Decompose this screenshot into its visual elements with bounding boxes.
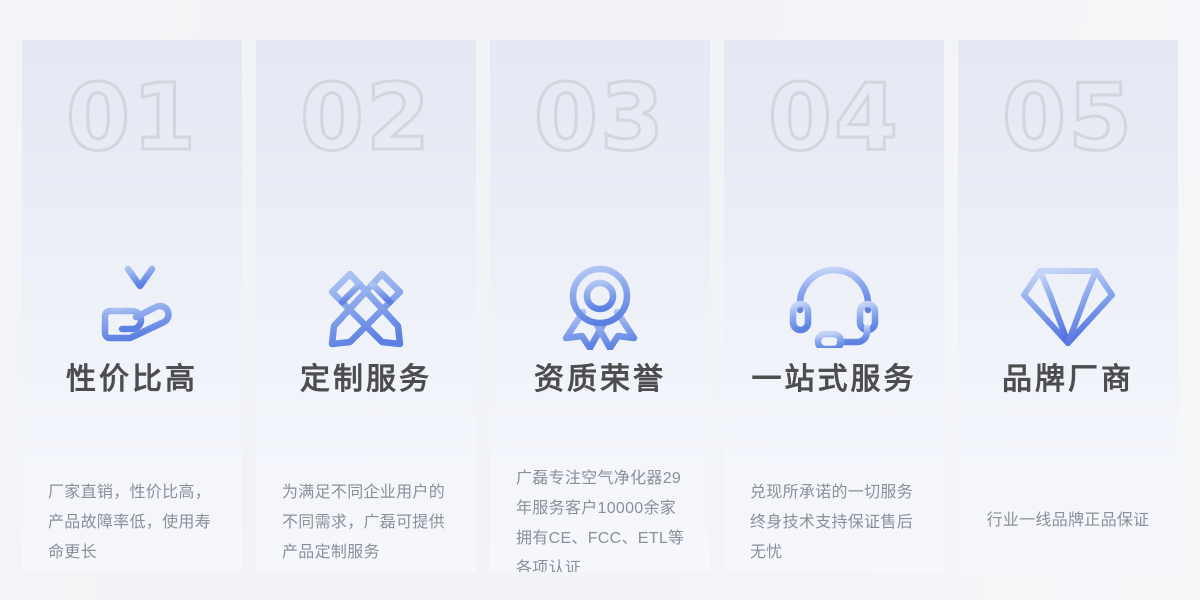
card-title: 一站式服务 <box>724 362 944 398</box>
diamond-icon <box>958 258 1178 354</box>
card-description: 厂家直销，性价比高，产品故障率低，使用寿命更长 <box>48 478 222 568</box>
hand-holding-money-icon <box>22 258 242 354</box>
card-number-badge: 05 <box>958 72 1178 164</box>
feature-card-02[interactable]: 02 <box>256 40 476 572</box>
award-ribbon-icon <box>490 258 710 354</box>
feature-card-01[interactable]: 01 <box>22 40 242 572</box>
card-number-badge: 04 <box>724 72 944 164</box>
feature-card-04[interactable]: 04 <box>724 40 944 572</box>
card-title: 资质荣誉 <box>490 362 710 398</box>
card-number-badge: 03 <box>490 72 710 164</box>
card-description: 为满足不同企业用户的不同需求，广磊可提供产品定制服务 <box>282 478 456 568</box>
headset-icon <box>724 258 944 354</box>
feature-card-05[interactable]: 05 <box>958 40 1178 572</box>
card-title: 定制服务 <box>256 362 476 398</box>
card-description: 兑现所承诺的一切服务终身技术支持保证售后无忧 <box>750 478 924 568</box>
card-description: 广磊专注空气净化器29年服务客户10000余家拥有CE、FCC、ETL等各项认证 <box>516 464 690 572</box>
card-title: 品牌厂商 <box>958 362 1178 398</box>
feature-strip: 01 <box>0 0 1200 600</box>
card-number-badge: 01 <box>22 72 242 164</box>
feature-card-row: 01 <box>22 40 1178 572</box>
feature-card-03[interactable]: 03 <box>490 40 710 572</box>
card-title: 性价比高 <box>22 362 242 398</box>
card-description: 行业一线品牌正品保证 <box>968 506 1168 536</box>
card-number-badge: 02 <box>256 72 476 164</box>
crossed-pens-icon <box>256 258 476 354</box>
